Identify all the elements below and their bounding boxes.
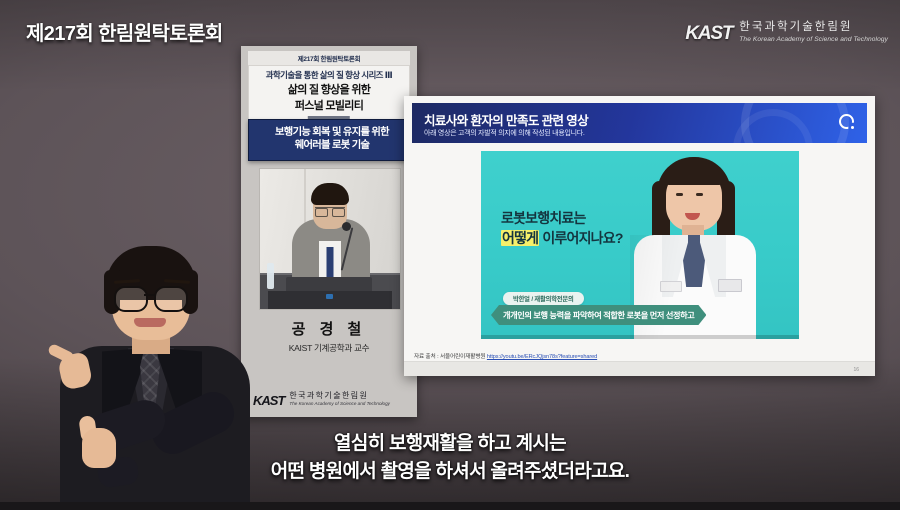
kast-korean-name: 한국과학기술한림원 [739, 22, 888, 34]
glasses-icon [112, 286, 190, 308]
kast-english-name-panel: The Korean Academy of Science and Techno… [289, 402, 390, 407]
angel-circle-dot [851, 126, 854, 129]
presenter-photo [259, 168, 401, 310]
bottom-letterbox-bar [0, 502, 900, 510]
glasses-lens-left [114, 286, 148, 312]
kast-korean-name-panel: 한국과학기술한림원 [289, 392, 390, 400]
photo-presenter-tie [327, 247, 334, 281]
panel-event-label: 제217회 한림원탁토론회 [248, 51, 410, 65]
angel-circle-icon [839, 114, 854, 129]
video-question-line2: 어떻게 이루어지나요? [501, 228, 623, 248]
session-title-line2: 웨어러블 로봇 기술 [252, 139, 412, 152]
subtitle-block: 열심히 보행재활을 하고 계시는 어떤 병원에서 촬영을 하셔서 올려주셨더라고… [0, 430, 900, 486]
video-question-rest: 이루어지나요? [539, 230, 622, 246]
glasses-lens-right [154, 286, 188, 312]
speaker-info-panel: 제217회 한림원탁토론회 과학기술을 통한 삶의 질 향상 시리즈 Ⅲ 삶의 … [241, 46, 417, 417]
slide-header-banner: 치료사와 환자의 만족도 관련 영상 아래 영상은 고객의 자발적 의지에 의해… [412, 103, 867, 143]
embedded-video[interactable]: 로봇보행치료는 어떻게 이루어지나요? 박한얼 / 재활의학전문의 개개인의 보… [481, 151, 799, 339]
source-prefix: 자료 출처 : 서울어린이재활병원 [414, 354, 487, 360]
panel-header: 제217회 한림원탁토론회 과학기술을 통한 삶의 질 향상 시리즈 Ⅲ 삶의 … [248, 51, 410, 120]
program-title: 제217회 한림원탁토론회 [26, 17, 223, 46]
video-question-highlight: 어떻게 [501, 230, 539, 246]
interviewee-eye-left [676, 193, 683, 196]
slide-header-title: 치료사와 환자의 만족도 관련 영상 [424, 110, 588, 129]
photo-presenter-hair [311, 183, 349, 205]
video-progress-bar[interactable] [481, 335, 799, 339]
microphone-icon [342, 222, 351, 231]
kast-logo-top: KAST 한국과학기술한림원 The Korean Academy of Sci… [685, 22, 888, 43]
interviewee-fringe [664, 163, 724, 185]
kast-logo-panel: KAST 한국과학기술한림원 The Korean Academy of Sci… [253, 392, 390, 407]
speaker-affiliation: KAIST 기계공학과 교수 [241, 342, 417, 354]
video-caption: 개개인의 보행 능력을 파악하여 적합한 로봇을 먼저 선정하고 [491, 305, 706, 325]
slide-source-note: 자료 출처 : 서울어린이재활병원 https://youtu.be/ERcJQ… [414, 352, 597, 360]
interviewee-name-tag: 박한얼 / 재활의학전문의 [503, 292, 584, 305]
photo-podium-emblem [326, 294, 333, 299]
interviewee-eye-right [696, 193, 703, 196]
subtitle-line-1: 열심히 보행재활을 하고 계시는 [0, 430, 900, 458]
photo-water-bottle [267, 263, 274, 289]
session-title-box: 보행기능 회복 및 유지를 위한 웨어러블 로봇 기술 [248, 119, 416, 161]
photo-presenter-glasses-icon [315, 207, 345, 215]
subtitle-line-2: 어떤 병원에서 촬영을 하셔서 올려주셨더라고요. [0, 458, 900, 486]
video-question-overlay: 로봇보행치료는 어떻게 이루어지나요? [501, 208, 623, 249]
interpreter-mouth [134, 318, 166, 327]
panel-main-title-line1: 삶의 질 향상을 위한 [252, 84, 406, 97]
video-question-line1: 로봇보행치료는 [501, 208, 623, 228]
source-url-link[interactable]: https://youtu.be/ERcJQjsn78s?feature=sha… [487, 354, 597, 360]
kast-acronym: KAST [685, 24, 732, 43]
broadcast-screen: 제217회 한림원탁토론회 KAST 한국과학기술한림원 The Korean … [0, 0, 900, 510]
slide-page-number: 16 [853, 367, 859, 373]
speaker-name: 공 경 철 [241, 318, 417, 339]
panel-series-label: 과학기술을 통한 삶의 질 향상 시리즈 Ⅲ [252, 70, 406, 81]
session-title-line1: 보행기능 회복 및 유지를 위한 [252, 126, 412, 139]
slide-header-subtitle: 아래 영상은 고객의 자발적 의지에 의해 작성된 내용입니다. [424, 128, 585, 138]
kast-english-name: The Korean Academy of Science and Techno… [739, 37, 888, 44]
presentation-slide: 치료사와 환자의 만족도 관련 영상 아래 영상은 고객의 자발적 의지에 의해… [404, 96, 875, 376]
slide-footer [404, 361, 875, 376]
